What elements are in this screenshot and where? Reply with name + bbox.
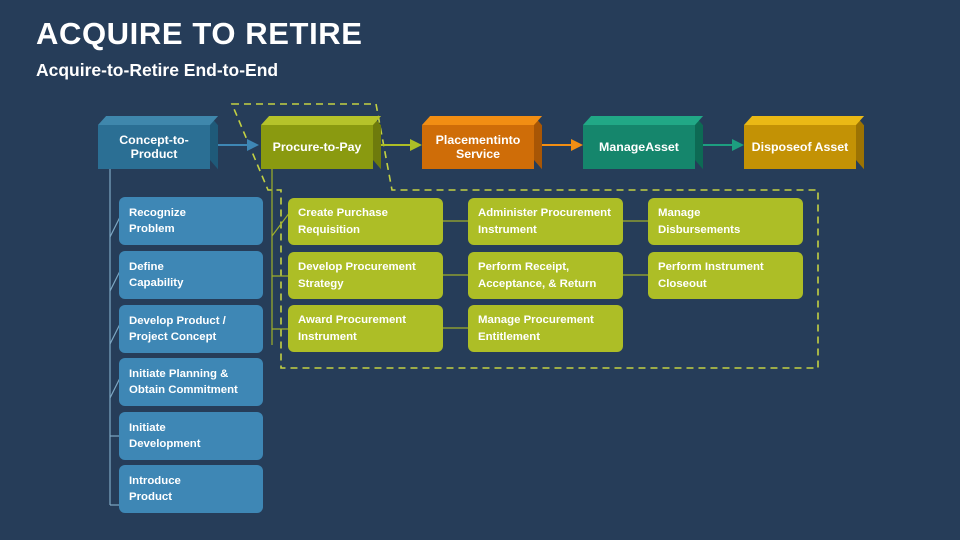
- stage-box-side-face: [373, 116, 381, 169]
- stage-box-placement-into-service[interactable]: Placementinto Service: [422, 116, 542, 169]
- stage-box-dispose-of-asset[interactable]: Disposeof Asset: [744, 116, 864, 169]
- task-box-label: Perform InstrumentCloseout: [658, 259, 764, 292]
- page-subtitle: Acquire-to-Retire End-to-End: [36, 60, 278, 81]
- stage-box-side-face: [856, 116, 864, 169]
- task-box-label: Develop Product /Project Concept: [129, 313, 226, 346]
- task-box-create-purchase-requisition[interactable]: Create PurchaseRequisition: [288, 198, 443, 245]
- task-box-label: Create PurchaseRequisition: [298, 205, 388, 238]
- task-box-label: Award ProcurementInstrument: [298, 312, 406, 345]
- stage-box-side-face: [534, 116, 542, 169]
- stage-box-label: Procure-to-Pay: [261, 125, 373, 169]
- stage-box-side-face: [210, 116, 218, 169]
- task-box-label: IntroduceProduct: [129, 473, 181, 506]
- stage-box-top-face: [98, 116, 218, 125]
- task-box-define-capability[interactable]: DefineCapability: [119, 251, 263, 299]
- stage-box-label: Concept-to-Product: [98, 125, 210, 169]
- task-box-label: Perform Receipt,Acceptance, & Return: [478, 259, 596, 292]
- task-box-introduce-product[interactable]: IntroduceProduct: [119, 465, 263, 513]
- page-title: ACQUIRE TO RETIRE: [36, 16, 363, 52]
- task-box-initiate-planning[interactable]: Initiate Planning &Obtain Commitment: [119, 358, 263, 406]
- task-box-label: ManageDisbursements: [658, 205, 740, 238]
- stage-box-procure-to-pay[interactable]: Procure-to-Pay: [261, 116, 381, 169]
- task-box-label: Develop ProcurementStrategy: [298, 259, 416, 292]
- stage-box-top-face: [583, 116, 703, 125]
- task-box-label: InitiateDevelopment: [129, 420, 201, 453]
- stage-box-top-face: [422, 116, 542, 125]
- task-box-manage-disbursements[interactable]: ManageDisbursements: [648, 198, 803, 245]
- task-box-administer-procurement-instrument[interactable]: Administer ProcurementInstrument: [468, 198, 623, 245]
- stage-box-label: ManageAsset: [583, 125, 695, 169]
- stage-box-side-face: [695, 116, 703, 169]
- slide-canvas: ACQUIRE TO RETIRE Acquire-to-Retire End-…: [0, 0, 960, 540]
- task-box-label: Manage ProcurementEntitlement: [478, 312, 594, 345]
- task-box-perform-instrument-closeout[interactable]: Perform InstrumentCloseout: [648, 252, 803, 299]
- stage-box-label: Disposeof Asset: [744, 125, 856, 169]
- stage-box-label: Placementinto Service: [422, 125, 534, 169]
- task-box-develop-product-concept[interactable]: Develop Product /Project Concept: [119, 305, 263, 353]
- stage-box-top-face: [744, 116, 864, 125]
- stage-box-manage-asset[interactable]: ManageAsset: [583, 116, 703, 169]
- task-box-perform-receipt-acceptance[interactable]: Perform Receipt,Acceptance, & Return: [468, 252, 623, 299]
- stage-box-top-face: [261, 116, 381, 125]
- task-box-manage-procurement-entitlement[interactable]: Manage ProcurementEntitlement: [468, 305, 623, 352]
- task-box-label: Initiate Planning &Obtain Commitment: [129, 366, 238, 399]
- task-box-label: Administer ProcurementInstrument: [478, 205, 611, 238]
- task-box-label: RecognizeProblem: [129, 205, 186, 238]
- task-box-recognize-problem[interactable]: RecognizeProblem: [119, 197, 263, 245]
- task-box-develop-procurement-strategy[interactable]: Develop ProcurementStrategy: [288, 252, 443, 299]
- task-box-award-procurement-instrument[interactable]: Award ProcurementInstrument: [288, 305, 443, 352]
- task-box-label: DefineCapability: [129, 259, 183, 292]
- stage-box-concept-to-product[interactable]: Concept-to-Product: [98, 116, 218, 169]
- task-box-initiate-development[interactable]: InitiateDevelopment: [119, 412, 263, 460]
